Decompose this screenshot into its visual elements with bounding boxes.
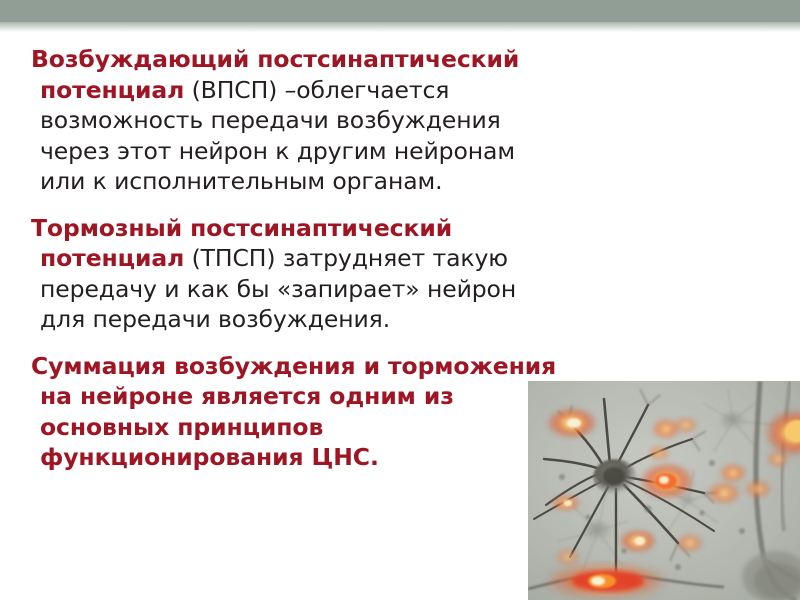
line-rest: через этот нейрон к другим нейронам [40,137,515,165]
top-decorative-band [0,0,800,22]
text-line: передачу и как бы «запирает» нейрон [36,274,560,305]
text-line: Тормозный постсинаптический [36,213,560,244]
text-line: на нейроне является одним из [36,381,560,412]
highlighted-term: потенциал [40,244,184,272]
text-line: потенциал (ВПСП) –облегчается [36,75,560,106]
text-line: Суммация возбуждения и торможения [36,351,560,382]
top-band-gradient [0,22,800,32]
text-line: возможность передачи возбуждения [36,105,560,136]
text-line: или к исполнительным органам. [36,166,560,197]
line-rest: (ВПСП) –облегчается [184,76,449,104]
highlighted-term: Тормозный постсинаптический [31,214,452,242]
text-line: основных принципов [36,412,560,443]
slide-body-text: Возбуждающий постсинаптический потенциал… [0,42,560,473]
highlighted-term: Возбуждающий постсинаптический [31,45,519,73]
neuron-network-photo [528,381,800,600]
slide-canvas: Возбуждающий постсинаптический потенциал… [0,0,800,600]
text-line: Возбуждающий постсинаптический [36,44,560,75]
paragraph-summation: Суммация возбуждения и торможения на ней… [0,335,560,473]
text-line: через этот нейрон к другим нейронам [36,136,560,167]
text-line: функционирования ЦНС. [36,442,560,473]
line-rest: или к исполнительным органам. [40,167,443,195]
paragraph-epsp: Возбуждающий постсинаптический потенциал… [0,42,560,197]
paragraph-ipsp: Тормозный постсинаптический потенциал (Т… [0,197,560,335]
line-rest: (ТПСП) затрудняет такую [184,244,508,272]
line-rest: для передачи возбуждения. [40,305,390,333]
text-line: потенциал (ТПСП) затрудняет такую [36,243,560,274]
line-rest: возможность передачи возбуждения [40,106,501,134]
line-rest: передачу и как бы «запирает» нейрон [40,275,516,303]
highlighted-term: потенциал [40,76,184,104]
text-line: для передачи возбуждения. [36,304,560,335]
